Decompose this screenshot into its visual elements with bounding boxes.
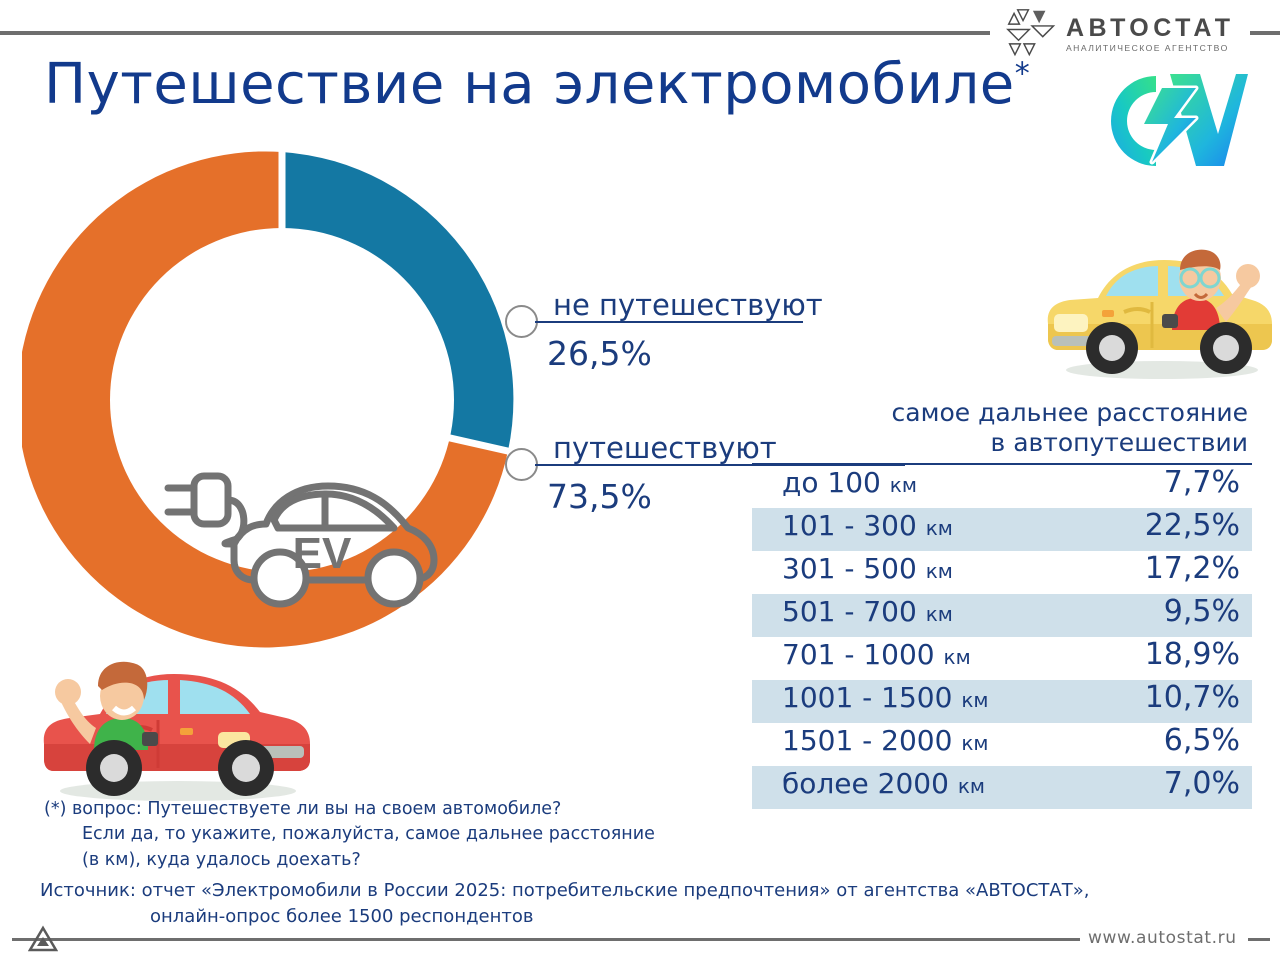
callout-dot-not-travel [505, 305, 538, 338]
red-car-indicator [180, 728, 193, 735]
table-row-unit: км [890, 473, 917, 497]
table-row-label: 501 - 700 км [782, 595, 953, 628]
footnote: (*) вопрос: Путешествуете ли вы на своем… [44, 797, 734, 873]
footnote-line3: (в км), куда удалось доехать? [44, 848, 734, 873]
table-row: 501 - 700 км9,5% [752, 594, 1252, 637]
title-asterisk: * [1015, 56, 1031, 91]
red-car-mirror [142, 732, 158, 746]
autostat-name: АВТОСТАТ [1066, 16, 1234, 41]
footer-divider-line-right [1248, 938, 1270, 941]
table-row-label: более 2000 км [782, 767, 985, 800]
distance-table: самое дальнее расстояние в автопутешеств… [752, 398, 1252, 809]
table-row-unit: км [926, 559, 953, 583]
table-row: 301 - 500 км17,2% [752, 551, 1252, 594]
table-row-unit: км [958, 774, 985, 798]
table-row-label: 301 - 500 км [782, 552, 953, 585]
table-row-label: 1501 - 2000 км [782, 724, 989, 757]
autostat-logo: АВТОСТАТ АНАЛИТИЧЕСКОЕ АГЕНТСТВО [1005, 5, 1260, 63]
distance-table-header-line1: самое дальнее расстояние [752, 398, 1248, 428]
table-row: до 100 км7,7% [752, 465, 1252, 508]
footer-divider-line [12, 938, 1080, 941]
table-row: 701 - 1000 км18,9% [752, 637, 1252, 680]
yellow-car-indicator [1102, 310, 1114, 317]
table-row: более 2000 км7,0% [752, 766, 1252, 809]
table-row-value: 18,9% [1145, 637, 1240, 672]
table-row-unit: км [926, 516, 953, 540]
infographic-page: АВТОСТАТ АНАЛИТИЧЕСКОЕ АГЕНТСТВО Путеш [0, 0, 1280, 960]
callout-dot-travel [505, 448, 538, 481]
yellow-car-person-hand [1236, 264, 1260, 288]
yellow-car-mirror [1162, 314, 1178, 328]
table-row: 1001 - 1500 км10,7% [752, 680, 1252, 723]
table-row-value: 22,5% [1145, 508, 1240, 543]
yellow-car-pillar [1158, 264, 1165, 298]
table-row-unit: км [944, 645, 971, 669]
source-line1: Источник: отчет «Электромобили в России … [40, 880, 1089, 901]
yellow-car-bumper [1052, 336, 1092, 346]
table-row-value: 6,5% [1164, 723, 1240, 758]
autostat-wordmark: АВТОСТАТ АНАЛИТИЧЕСКОЕ АГЕНТСТВО [1066, 16, 1234, 53]
ev-car-plug-icon: EV [162, 458, 452, 618]
donut-chart: EV [22, 140, 542, 660]
distance-table-header: самое дальнее расстояние в автопутешеств… [752, 398, 1252, 457]
header-divider-line [0, 31, 990, 35]
table-row-label: до 100 км [782, 466, 917, 499]
table-row-unit: км [961, 688, 988, 712]
footer-triangle-icon [28, 925, 58, 953]
page-title-text: Путешествие на электромобиле [44, 52, 1015, 117]
table-row: 1501 - 2000 км6,5% [752, 723, 1252, 766]
ev-brand-logo [1078, 62, 1248, 177]
footer-url[interactable]: www.autostat.ru [1088, 928, 1237, 948]
source-note: Источник: отчет «Электромобили в России … [40, 878, 1220, 930]
footnote-line1: (*) вопрос: Путешествуете ли вы на своем… [44, 799, 561, 819]
table-row-value: 9,5% [1164, 594, 1240, 629]
table-row-unit: км [961, 731, 988, 755]
distance-table-body: до 100 км7,7%101 - 300 км22,5%301 - 500 … [752, 465, 1252, 809]
source-line2: онлайн-опрос более 1500 респондентов [40, 904, 1220, 930]
callout-label-not-travel: не путешествуют [553, 291, 823, 320]
yellow-car-headlight [1054, 314, 1088, 332]
table-row-value: 7,7% [1164, 465, 1240, 500]
table-row-value: 10,7% [1145, 680, 1240, 715]
table-row-unit: км [926, 602, 953, 626]
table-row-value: 7,0% [1164, 766, 1240, 801]
table-row: 101 - 300 км22,5% [752, 508, 1252, 551]
red-car-pillar [168, 678, 177, 714]
callout-value-not-travel: 26,5% [547, 337, 652, 370]
yellow-car-illustration [1040, 212, 1280, 387]
autostat-tagline: АНАЛИТИЧЕСКОЕ АГЕНТСТВО [1066, 44, 1234, 53]
red-car-person-hand [55, 679, 81, 705]
red-car-illustration [28, 628, 318, 808]
callout-value-travel: 73,5% [547, 480, 652, 513]
table-row-label: 701 - 1000 км [782, 638, 971, 671]
footnote-line2: Если да, то укажите, пожалуйста, самое д… [44, 822, 734, 847]
table-row-value: 17,2% [1145, 551, 1240, 586]
distance-table-header-line2: в автопутешествии [752, 428, 1248, 458]
ev-center-label: EV [293, 529, 352, 578]
table-row-label: 101 - 300 км [782, 509, 953, 542]
page-title: Путешествие на электромобиле* [44, 52, 1030, 117]
callout-label-travel: путешествуют [553, 434, 777, 463]
table-row-label: 1001 - 1500 км [782, 681, 989, 714]
